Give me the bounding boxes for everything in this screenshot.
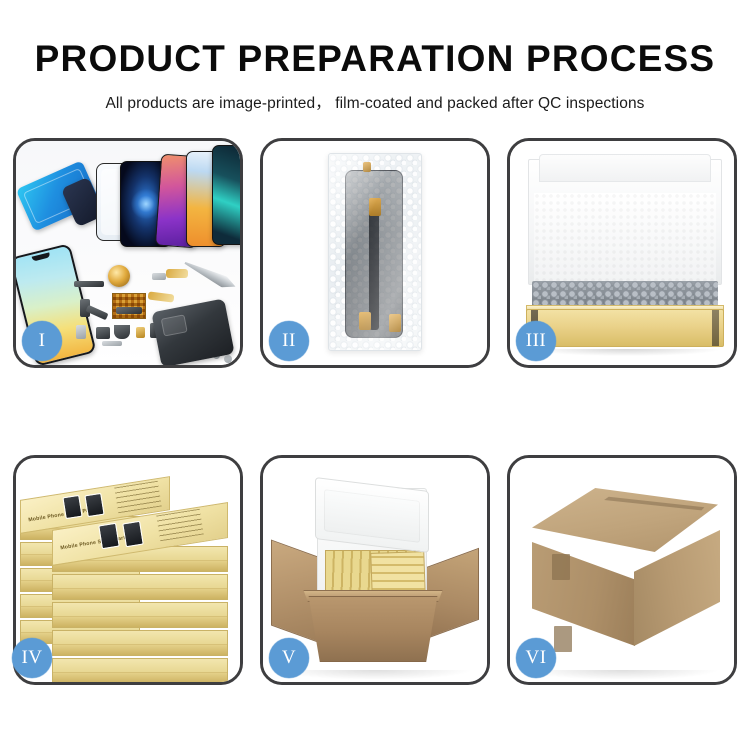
plastic-gloss bbox=[329, 154, 421, 350]
spare-part bbox=[116, 307, 142, 314]
drop-shadow bbox=[532, 349, 720, 356]
process-step-grid: I II bbox=[13, 138, 737, 685]
spare-part bbox=[86, 305, 109, 320]
step-badge-1: I bbox=[22, 321, 62, 361]
product-preparation-process-infographic: PRODUCT PREPARATION PROCESS All products… bbox=[0, 0, 750, 750]
screw-part bbox=[224, 355, 232, 363]
carton-front-panel bbox=[303, 596, 443, 662]
spare-part bbox=[152, 273, 166, 280]
flex-cable-part bbox=[148, 291, 175, 302]
foam-sheet bbox=[534, 193, 716, 281]
tweezers-tool bbox=[182, 257, 238, 292]
retail-box bbox=[52, 602, 228, 628]
page-subtitle: All products are image-printed， film-coa… bbox=[0, 91, 750, 113]
process-step-panel-4[interactable]: Mobile Phone Spare Parts Mobile Phone Sp… bbox=[13, 455, 243, 685]
step-badge-5: V bbox=[269, 638, 309, 678]
packing-tape bbox=[554, 626, 572, 652]
process-step-panel-6[interactable]: VI bbox=[507, 455, 737, 685]
page-title: PRODUCT PREPARATION PROCESS bbox=[0, 38, 750, 80]
step-badge-6: VI bbox=[516, 638, 556, 678]
process-step-panel-3[interactable]: III bbox=[507, 138, 737, 368]
header: PRODUCT PREPARATION PROCESS All products… bbox=[0, 0, 750, 113]
step-badge-4: IV bbox=[12, 638, 52, 678]
spare-part bbox=[76, 325, 86, 339]
retail-box bbox=[52, 658, 228, 682]
drop-shadow bbox=[524, 670, 720, 680]
process-step-panel-2[interactable]: II bbox=[260, 138, 490, 368]
retail-box bbox=[52, 630, 228, 656]
carton-top-face bbox=[532, 488, 718, 552]
process-step-panel-5[interactable]: V bbox=[260, 455, 490, 685]
spare-part bbox=[114, 325, 130, 339]
carton-left-face bbox=[532, 542, 635, 646]
spare-part bbox=[136, 327, 145, 338]
phone-teal-streak bbox=[212, 145, 240, 245]
bubble-wrap-bag bbox=[328, 153, 422, 351]
step-badge-2: II bbox=[269, 321, 309, 361]
spare-part bbox=[74, 281, 104, 287]
retail-box bbox=[52, 574, 228, 600]
packing-tape bbox=[552, 554, 570, 580]
spare-part bbox=[96, 327, 110, 339]
process-step-panel-1[interactable]: I bbox=[13, 138, 243, 368]
box-label-screen-image bbox=[62, 495, 82, 519]
gold-chip-part bbox=[112, 293, 146, 319]
phone-rear-housing bbox=[151, 298, 234, 365]
spare-part bbox=[102, 341, 122, 346]
step-badge-3: III bbox=[516, 321, 556, 361]
box-label-screen-image bbox=[122, 521, 144, 548]
flex-cable-part bbox=[166, 269, 188, 278]
box-label-screen-image bbox=[84, 493, 104, 517]
speaker-coil-part bbox=[108, 265, 130, 287]
box-label-screen-image bbox=[98, 523, 120, 550]
drop-shadow bbox=[277, 670, 473, 680]
